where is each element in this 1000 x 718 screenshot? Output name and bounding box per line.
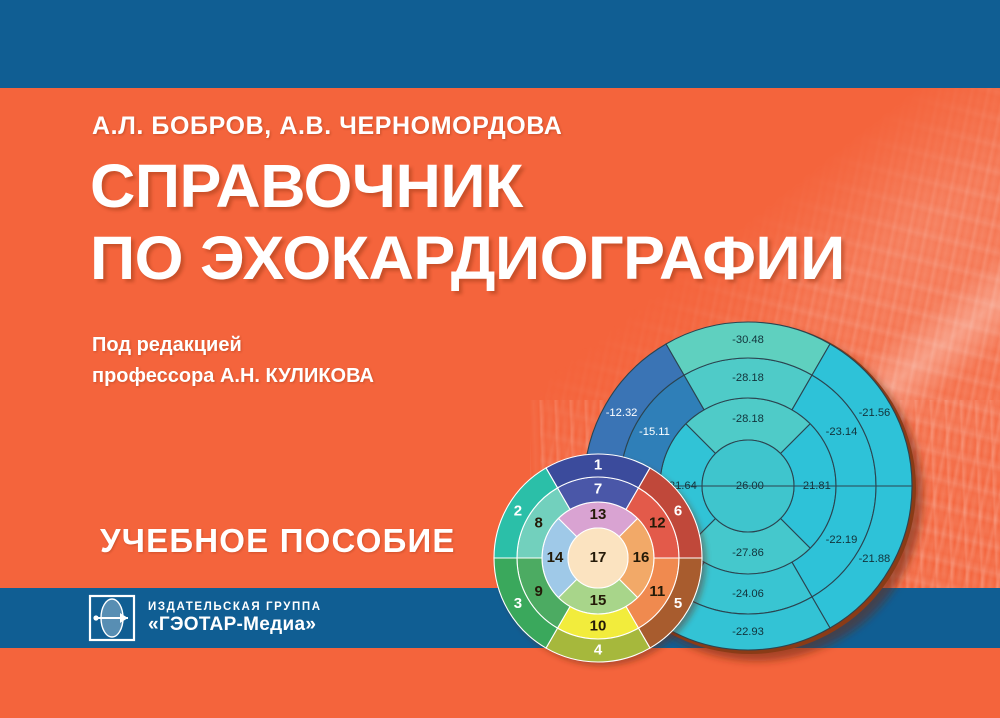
strain-value: -23.14	[826, 426, 858, 438]
strain-value: -15.11	[639, 426, 670, 438]
edition-type-label: УЧЕБНОЕ ПОСОБИЕ	[100, 522, 456, 560]
publisher-logo: ИЗДАТЕЛЬСКАЯ ГРУППА «ГЭОТАР-Медиа»	[88, 594, 322, 642]
strain-value: -21.88	[859, 553, 891, 565]
publisher-group-label: ИЗДАТЕЛЬСКАЯ ГРУППА	[148, 601, 322, 613]
strain-value: -24.06	[732, 588, 764, 600]
editor-credit: Под редакцией профессора А.Н. КУЛИКОВА	[92, 330, 374, 392]
segment-number: 16	[633, 549, 650, 566]
segment-number-center: 17	[590, 549, 607, 566]
book-cover: А.Л. БОБРОВ, А.В. ЧЕРНОМОРДОВА СПРАВОЧНИ…	[0, 0, 1000, 718]
segment-number: 1	[594, 456, 602, 473]
strain-value: -22.19	[826, 534, 858, 546]
segment-model-bullseye-chart: 1316151471211109816543217	[492, 452, 708, 668]
editor-credit-line-1: Под редакцией	[92, 330, 374, 361]
segment-number: 3	[514, 595, 522, 612]
page-title-line-2: ПО ЭХОКАРДИОГРАФИИ	[90, 228, 845, 289]
strain-value: -12.32	[606, 407, 638, 419]
segment-number: 9	[535, 583, 543, 600]
segment-number: 14	[547, 549, 564, 566]
segment-number: 8	[535, 515, 543, 532]
segment-model-svg: 1316151471211109816543217	[492, 452, 708, 668]
authors-line: А.Л. БОБРОВ, А.В. ЧЕРНОМОРДОВА	[92, 112, 562, 141]
segment-number: 11	[649, 583, 665, 600]
segment-number: 13	[590, 506, 607, 523]
segment-number: 12	[649, 515, 666, 532]
strain-value: -27.86	[732, 547, 764, 559]
publisher-name: «ГЭОТАР-Медиа»	[148, 614, 322, 636]
segment-number: 7	[594, 480, 602, 497]
strain-value: -28.18	[732, 372, 764, 384]
strain-value: -21.56	[859, 407, 891, 419]
publisher-text: ИЗДАТЕЛЬСКАЯ ГРУППА «ГЭОТАР-Медиа»	[148, 601, 322, 636]
strain-value: -30.48	[732, 334, 764, 346]
segment-number: 15	[590, 592, 607, 609]
segment-number: 4	[594, 641, 603, 658]
segment-number: 2	[514, 503, 522, 520]
strain-value: -28.18	[732, 413, 764, 425]
segment-number: 6	[674, 503, 682, 520]
segment-number: 10	[590, 617, 607, 634]
top-blue-band	[0, 0, 1000, 88]
geotar-logo-icon	[88, 594, 136, 642]
page-title-line-1: СПРАВОЧНИК	[90, 156, 523, 217]
segment-number: 5	[674, 595, 682, 612]
editor-credit-line-2: профессора А.Н. КУЛИКОВА	[92, 361, 374, 392]
strain-value: -22.93	[732, 626, 764, 638]
